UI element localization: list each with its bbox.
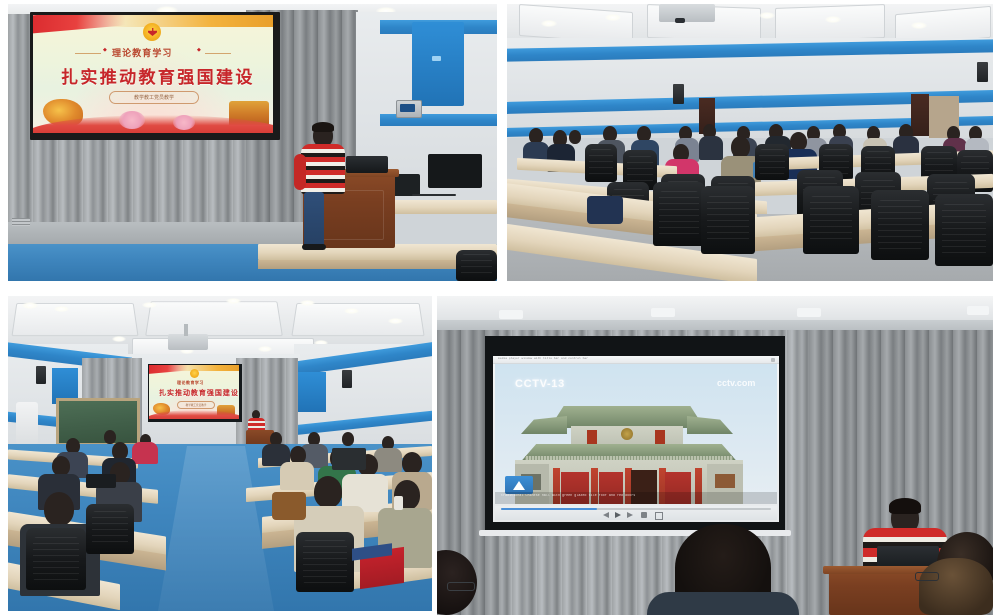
attendee-head-center (731, 136, 750, 158)
speaker-icon (673, 84, 684, 104)
bag-on-chair (272, 492, 306, 520)
slide-subtitle-text: 教学教工党员教学 (186, 403, 207, 407)
ceiling-coffer (775, 4, 885, 42)
chair (296, 532, 354, 592)
cctv-watermark: cctv.com (717, 378, 755, 388)
presenter-torso (301, 144, 345, 194)
panel-bottom-right[interactable]: media player window with title bar and c… (437, 296, 993, 615)
audience-head-foreground (44, 492, 74, 526)
speaker-icon (342, 370, 352, 388)
panel-top-right[interactable] (507, 4, 993, 281)
slide-wave-decor (149, 410, 239, 419)
cup-on-desk (394, 496, 403, 510)
downlight (226, 298, 241, 304)
presenter-hair (312, 122, 334, 132)
temple-upper-window (587, 430, 597, 446)
window-close-icon[interactable] (771, 358, 775, 362)
foreground-chair (456, 250, 497, 281)
slide-gold-ribbon (103, 15, 273, 27)
downlight (759, 12, 775, 19)
blossom-decor (173, 115, 195, 130)
panel-top-left[interactable]: ◆ 理论教育学习 ◆ 扎实推动教育强国建设 教学教工党员教学 (8, 4, 497, 281)
chair-foreground (935, 194, 993, 266)
chair (26, 528, 86, 590)
ceiling-light-fixture (797, 308, 821, 317)
ceiling-light-fixture (651, 308, 675, 317)
downlight (300, 300, 315, 306)
wall-blue-panel-right (298, 372, 326, 412)
panel-bottom-left[interactable]: 理论教育学习 扎实推动教育强国建设 教学教工党员教学 (8, 296, 432, 611)
ceiling-coffer (145, 301, 283, 336)
player-progress-fill (501, 508, 597, 510)
cctv-channel-logo: CCTV-13 (515, 378, 565, 390)
laptop-icon (86, 474, 116, 488)
audience-head (342, 432, 354, 446)
eyeglasses-icon (915, 572, 939, 581)
media-player-window[interactable]: media player window with title bar and c… (493, 356, 779, 522)
temple-upper-window (655, 430, 665, 446)
presenter-arm (294, 154, 306, 190)
temple-upper-eave-right (687, 416, 733, 434)
photo-collage: ◆ 理论教育学习 ◆ 扎实推动教育强国建设 教学教工党员教学 (0, 0, 993, 615)
downlight (911, 22, 927, 29)
equipment-monitor (428, 154, 482, 188)
slide-title-text: 扎实推动教育强国建设 (159, 388, 239, 398)
presenter-shoes (302, 244, 326, 250)
speaker-icon (977, 62, 988, 82)
temple-upper-eave-left (521, 416, 567, 434)
party-emblem-icon (190, 369, 199, 378)
audience-head (52, 456, 70, 476)
air-conditioner (16, 402, 38, 444)
laptop-icon (346, 156, 388, 173)
blossom-decor (119, 111, 145, 129)
audience-head (402, 452, 422, 474)
slide-subtitle-text: 教学教工党员教学 (134, 94, 174, 101)
presenter-legs (304, 192, 324, 248)
volume-icon[interactable] (641, 512, 647, 518)
chair (585, 144, 617, 182)
downlight (112, 336, 126, 342)
ceiling-light-fixture (499, 310, 523, 319)
temple-side-window (715, 474, 735, 488)
chair-foreground (803, 186, 859, 254)
monitor (332, 448, 366, 470)
slide-rule-left (75, 53, 101, 54)
player-control-bar[interactable] (495, 506, 777, 520)
projector-mount (184, 324, 188, 336)
play-controls-icon[interactable] (615, 512, 621, 518)
control-panel-display (400, 104, 415, 112)
next-icon[interactable] (627, 512, 633, 518)
downlight (541, 20, 557, 27)
bag-under-desk (587, 196, 623, 224)
audience-back (374, 448, 402, 472)
attendee-torso (699, 136, 723, 160)
video-canvas[interactable]: CCTV-13 cctv.com (495, 364, 777, 504)
audience-back (280, 462, 314, 490)
projector-lens (675, 18, 685, 23)
audience-back (132, 442, 158, 464)
downlight (54, 306, 69, 312)
slide-header-text: 理论教育学习 (112, 46, 172, 59)
wall-vent (12, 218, 30, 226)
slide-header-text: 理论教育学习 (177, 380, 204, 386)
fullscreen-icon[interactable] (655, 512, 663, 520)
chair (86, 504, 134, 554)
projector-icon (168, 334, 208, 350)
cable (412, 194, 456, 196)
presenter-hair (889, 498, 921, 514)
chair-foreground (653, 182, 705, 246)
downlight (344, 308, 359, 314)
slide-header-bullet-left: ◆ (103, 47, 107, 53)
temple-emblem-icon (621, 428, 633, 440)
video-subtitle-text: traditional Chinese hall with green glaz… (501, 494, 635, 498)
prev-icon[interactable] (603, 512, 609, 518)
chair-foreground (871, 190, 929, 260)
audience-head (104, 430, 116, 444)
ceiling-light-fixture (967, 306, 989, 315)
eyeglasses-icon (447, 582, 475, 591)
slide-gold-ribbon (175, 365, 239, 371)
doorway-right[interactable] (911, 94, 929, 136)
projection-screen-slide: 理论教育学习 扎实推动教育强国建设 教学教工党员教学 (149, 365, 239, 419)
podium-panel (316, 190, 384, 240)
projection-screen-slide: ◆ 理论教育学习 ◆ 扎实推动教育强国建设 教学教工党员教学 (33, 15, 273, 133)
panel-highlight (432, 56, 441, 61)
projector-icon (659, 4, 715, 22)
ceiling-coffer (291, 303, 424, 336)
wall-blue-panel (412, 22, 464, 106)
downlight (388, 318, 403, 324)
downlight (22, 302, 38, 309)
slide-rule-right (205, 53, 231, 54)
slide-subtitle-pill: 教学教工党员教学 (177, 401, 215, 409)
attendee-head (569, 130, 581, 144)
chair-foreground (701, 186, 755, 254)
speaker-icon (36, 366, 46, 384)
slide-title-text: 扎实推动教育强国建设 (61, 63, 255, 88)
slide-header-bullet-right: ◆ (197, 47, 201, 53)
audience-shoulders-center (647, 592, 799, 615)
downlight (258, 346, 272, 352)
audience-head-right-back (919, 558, 993, 615)
audience-head-foreground (314, 476, 342, 508)
downlight (142, 302, 157, 308)
downlight (825, 16, 841, 23)
window-title-text: media player window with title bar and c… (498, 357, 588, 360)
chair (755, 144, 789, 180)
downlight (605, 14, 621, 21)
slide-subtitle-pill: 教学教工党员教学 (109, 91, 199, 104)
